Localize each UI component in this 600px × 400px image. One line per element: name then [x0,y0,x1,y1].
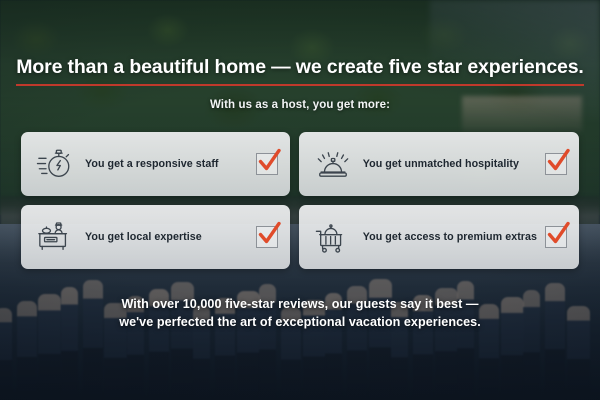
hero-section: More than a beautiful home — we create f… [0,0,600,400]
benefit-checkbox[interactable] [256,153,278,175]
benefits-grid: You get a responsive staffYou get unmatc… [21,132,579,269]
benefit-card[interactable]: You get access to premium extras [299,205,579,269]
footer-suffix: five-star reviews, our guests say it bes… [222,297,479,311]
footer-line-1: With over 10,000 five-star reviews, our … [0,295,600,313]
footer-line-2: we've perfected the art of exceptional v… [0,313,600,331]
subheadline: With us as a host, you get more: [0,99,600,111]
benefit-checkbox[interactable] [545,153,567,175]
benefit-card[interactable]: You get unmatched hospitality [299,132,579,196]
benefit-card[interactable]: You get local expertise [21,205,290,269]
footer-statement: With over 10,000 five-star reviews, our … [0,295,600,332]
stopwatch-icon [35,145,75,183]
benefit-label: You get a responsive staff [75,158,256,170]
benefit-label: You get unmatched hospitality [353,158,545,170]
footer-prefix: With over [121,297,182,311]
benefit-label: You get access to premium extras [353,231,545,243]
concierge-desk-icon [35,218,75,256]
review-count: 10,000 [183,297,222,311]
benefit-checkbox[interactable] [256,226,278,248]
benefit-card[interactable]: You get a responsive staff [21,132,290,196]
headline-wrapper: More than a beautiful home — we create f… [0,56,600,86]
page-title: More than a beautiful home — we create f… [16,56,583,86]
benefit-checkbox[interactable] [545,226,567,248]
benefit-label: You get local expertise [75,231,256,243]
room-service-cart-icon [313,218,353,256]
service-bell-icon [313,145,353,183]
